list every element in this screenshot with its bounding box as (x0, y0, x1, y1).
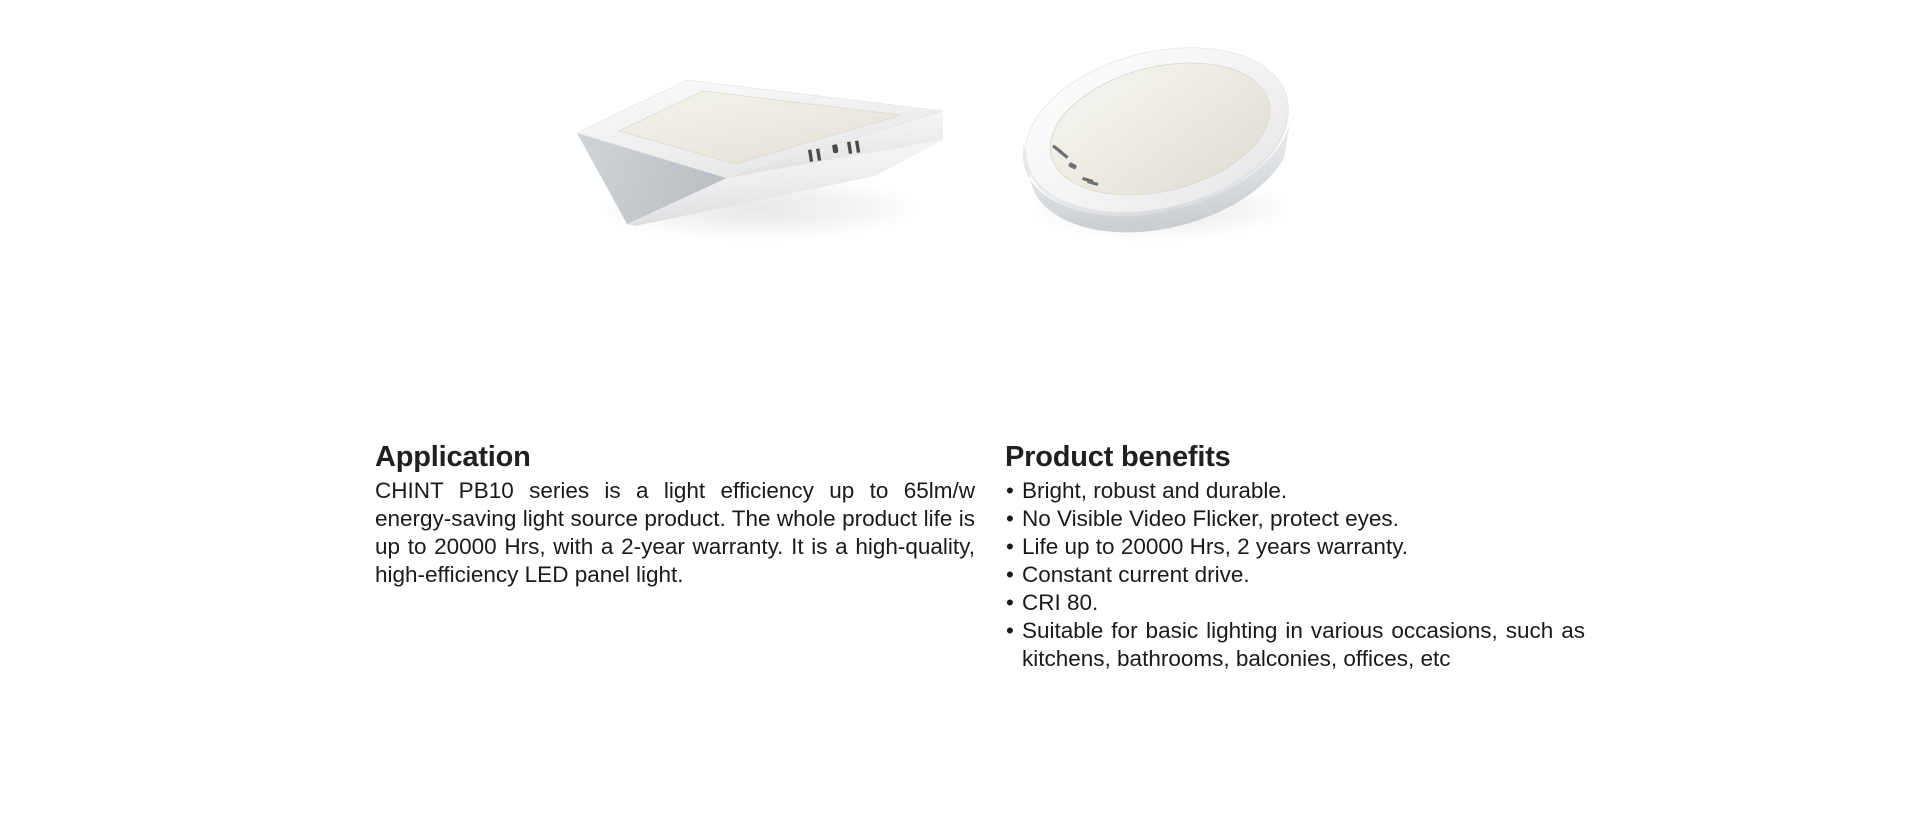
benefit-item: • Bright, robust and durable. (1005, 477, 1585, 505)
benefit-item: • Constant current drive. (1005, 561, 1585, 589)
bullet-icon: • (1006, 505, 1014, 533)
round-panel-render (1012, 30, 1302, 245)
benefit-item: • No Visible Video Flicker, protect eyes… (1005, 505, 1585, 533)
square-panel-light-image (575, 28, 945, 243)
benefit-item-label: CRI 80. (1022, 590, 1098, 615)
bullet-icon: • (1006, 561, 1014, 589)
benefit-item: • CRI 80. (1005, 589, 1585, 617)
bullet-icon: • (1006, 617, 1014, 645)
square-panel-render (575, 28, 945, 243)
product-benefits-heading: Product benefits (1005, 440, 1585, 474)
benefit-item-label: Suitable for basic lighting in various o… (1022, 618, 1585, 671)
bullet-icon: • (1006, 477, 1014, 505)
benefit-item: • Life up to 20000 Hrs, 2 years warranty… (1005, 533, 1585, 561)
bullet-icon: • (1006, 533, 1014, 561)
benefit-item-label: Constant current drive. (1022, 562, 1250, 587)
benefit-item-label: No Visible Video Flicker, protect eyes. (1022, 506, 1399, 531)
product-benefits-list: • Bright, robust and durable. • No Visib… (1005, 477, 1585, 673)
product-benefits-column: Product benefits • Bright, robust and du… (1005, 440, 1585, 673)
benefit-item: • Suitable for basic lighting in various… (1005, 617, 1585, 673)
benefit-item-label: Bright, robust and durable. (1022, 478, 1287, 503)
round-panel-light-image (1012, 30, 1302, 245)
application-column: Application CHINT PB10 series is a light… (375, 440, 975, 589)
application-heading: Application (375, 440, 975, 474)
benefit-item-label: Life up to 20000 Hrs, 2 years warranty. (1022, 534, 1408, 559)
application-body-text: CHINT PB10 series is a light efficiency … (375, 477, 975, 589)
product-gallery (0, 0, 1920, 330)
bullet-icon: • (1006, 589, 1014, 617)
